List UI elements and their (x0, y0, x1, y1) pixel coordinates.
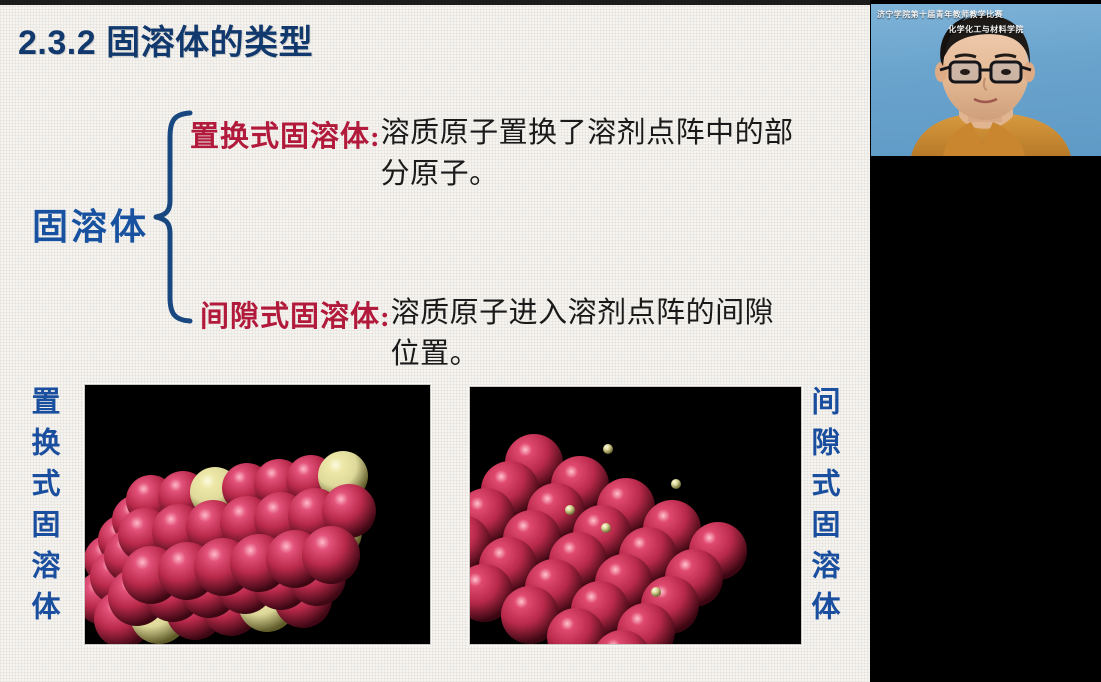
definition-interstitial: 间隙式固溶体:溶质原子进入溶剂点阵的间隙位置。 (200, 293, 791, 375)
figure-caption-substitutional: 置换式固溶体 (28, 386, 57, 632)
webcam-overlay-title: 济宁学院第十届青年教师教学比赛 (871, 9, 1101, 20)
definition-substitutional-head: 置换式固溶体: (190, 113, 381, 155)
definition-substitutional-body: 溶质原子置换了溶剂点阵中的部分原子。 (381, 113, 806, 195)
webcam-overlay-subtitle: 化学化工与材料学院 (871, 24, 1101, 35)
presentation-slide: 2.3.2 固溶体的类型 固溶体 置换式固溶体:溶质原子置换了溶剂点阵中的部分原… (0, 5, 870, 682)
black-filler-right (870, 156, 1101, 682)
definition-interstitial-head: 间隙式固溶体: (200, 293, 391, 335)
page-title: 2.3.2 固溶体的类型 (18, 15, 313, 64)
definition-substitutional: 置换式固溶体:溶质原子置换了溶剂点阵中的部分原子。 (190, 113, 806, 195)
screen-root: 2.3.2 固溶体的类型 固溶体 置换式固溶体:溶质原子置换了溶剂点阵中的部分原… (0, 0, 1101, 682)
webcam-video-panel[interactable]: 济宁学院第十届青年教师教学比赛 化学化工与材料学院 (871, 4, 1101, 156)
figure-caption-interstitial: 间隙式固溶体 (808, 386, 837, 632)
figure-interstitial-lattice (469, 386, 802, 645)
figure-substitutional-lattice (84, 384, 431, 645)
solid-solution-root-label: 固溶体 (32, 198, 149, 250)
definition-interstitial-body: 溶质原子进入溶剂点阵的间隙位置。 (391, 293, 791, 375)
